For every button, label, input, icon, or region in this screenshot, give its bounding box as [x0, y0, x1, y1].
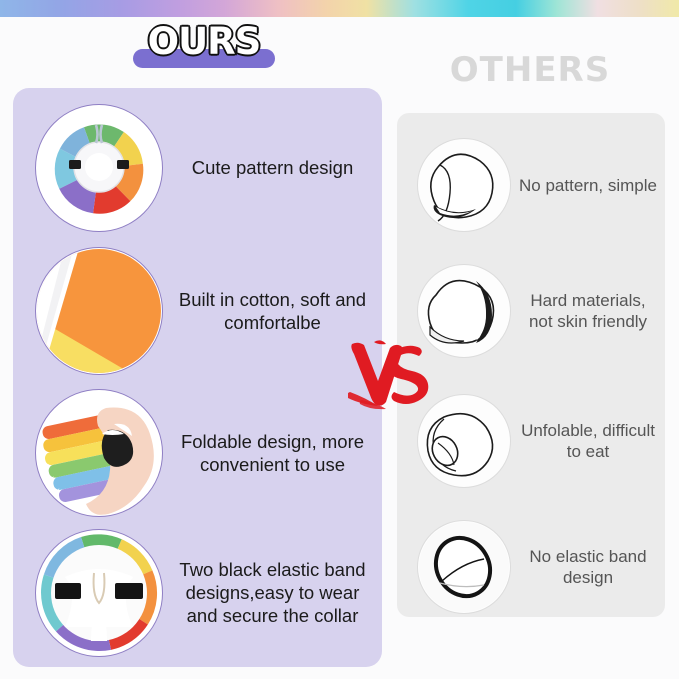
others-caption-4: No elastic band design: [511, 546, 665, 588]
ours-row-4: Two black elastic band designs,easy to w…: [13, 520, 382, 665]
cotton-fabric-closeup-image: [35, 247, 163, 375]
ours-caption-1: Cute pattern design: [163, 156, 382, 179]
infographic-page: OURS OTHERS: [0, 0, 679, 679]
hard-plastic-cone-image: [417, 264, 511, 358]
hand-folding-collar-image: [35, 389, 163, 517]
others-row-3: Unfolable, difficult to eat: [397, 378, 665, 504]
ours-row-3: Foldable design, more convenient to use: [13, 380, 382, 525]
ours-caption-4: Two black elastic band designs,easy to w…: [163, 558, 382, 627]
collar-with-elastic-bands-image: [35, 529, 163, 657]
plain-white-cone-image: [417, 138, 511, 232]
others-row-2: Hard materials, not skin friendly: [397, 248, 665, 374]
ours-row-1: Cute pattern design: [13, 95, 382, 240]
ours-heading: OURS: [125, 22, 283, 68]
others-caption-1: No pattern, simple: [511, 175, 665, 196]
ours-title: OURS: [125, 22, 283, 62]
cone-no-elastic-band-image: [417, 520, 511, 614]
rigid-cone-unfoldable-image: [417, 394, 511, 488]
top-gradient-bar: [0, 0, 679, 17]
others-title: OTHERS: [395, 50, 665, 90]
ours-caption-3: Foldable design, more convenient to use: [163, 430, 382, 476]
rainbow-collar-top-view-image: [35, 104, 163, 232]
others-caption-3: Unfolable, difficult to eat: [511, 420, 665, 462]
ours-row-2: Built in cotton, soft and comfortalbe: [13, 238, 382, 383]
others-row-1: No pattern, simple: [397, 122, 665, 248]
others-row-4: No elastic band design: [397, 504, 665, 630]
versus-badge: [348, 340, 430, 410]
ours-caption-2: Built in cotton, soft and comfortalbe: [163, 288, 382, 334]
others-caption-2: Hard materials, not skin friendly: [511, 290, 665, 332]
